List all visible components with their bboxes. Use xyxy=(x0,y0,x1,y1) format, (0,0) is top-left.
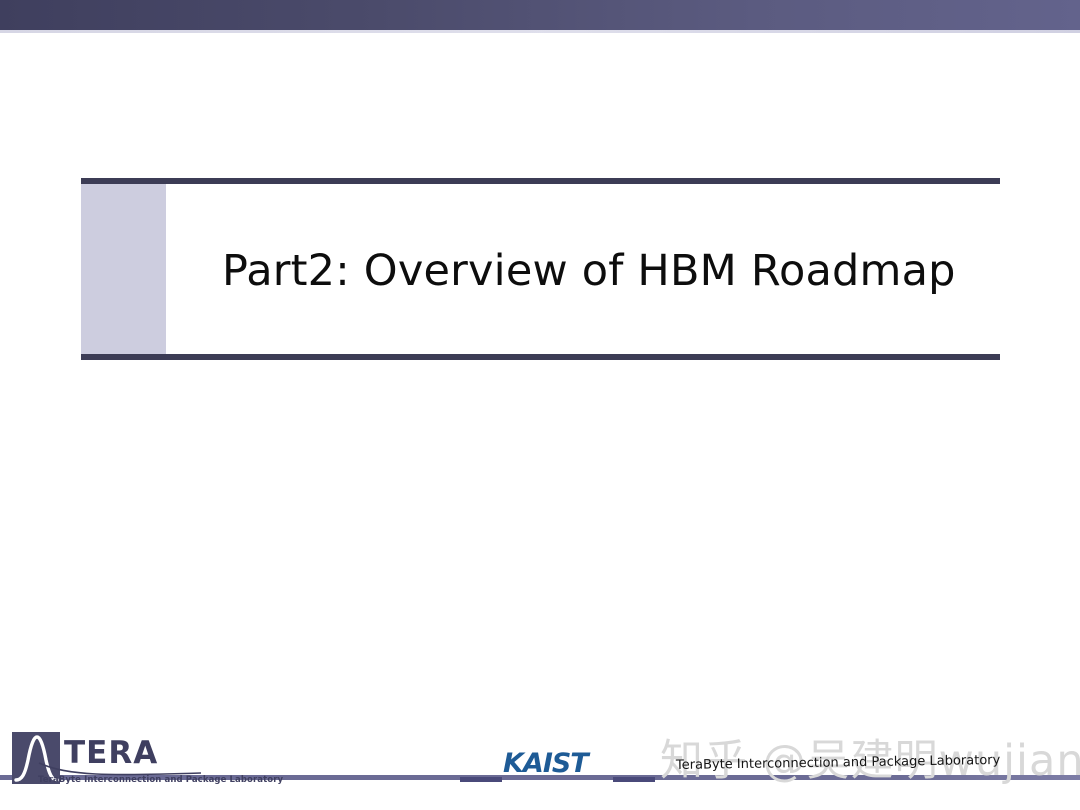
kaist-logo: KAIST xyxy=(470,750,625,785)
kaist-bar-right xyxy=(613,777,655,782)
section-title-block: Part2: Overview of HBM Roadmap xyxy=(81,178,1000,360)
top-banner-underline xyxy=(0,30,1080,33)
slide-canvas: Part2: Overview of HBM Roadmap TERA Tera… xyxy=(0,0,1080,810)
top-banner xyxy=(0,0,1080,30)
title-accent-block xyxy=(81,184,166,354)
tera-logo: TERA TeraByte Interconnection and Packag… xyxy=(12,732,202,788)
kaist-wordmark: KAIST xyxy=(503,750,588,777)
page-title: Part2: Overview of HBM Roadmap xyxy=(222,246,956,296)
kaist-bar-left xyxy=(460,777,502,782)
footer-caption: TeraByte Interconnection and Package Lab… xyxy=(676,753,1000,773)
tera-tagline: TeraByte Interconnection and Package Lab… xyxy=(38,775,283,785)
title-rule-bottom xyxy=(81,354,1000,360)
